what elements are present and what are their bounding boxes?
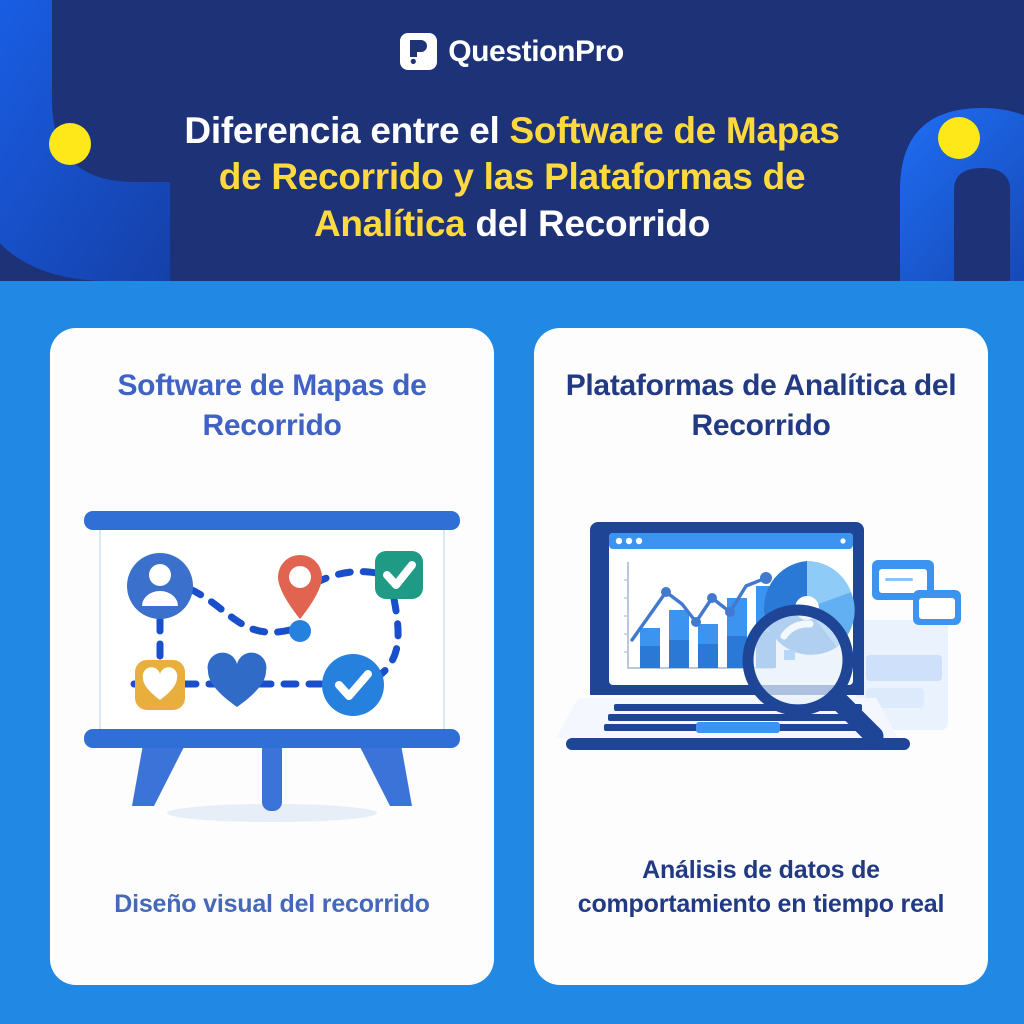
teal-checkbox-icon <box>375 551 423 599</box>
yellow-heart-square-icon <box>135 660 185 710</box>
card-title: Software de Mapas de Recorrido <box>72 366 472 445</box>
brand-name: QuestionPro <box>448 37 624 67</box>
whiteboard-journey-map-illustration <box>72 445 472 887</box>
title-part-highlight-1: Software de Mapas <box>510 110 840 151</box>
card-journey-mapping-software[interactable]: Software de Mapas de Recorrido <box>50 328 494 985</box>
title-part-white-2: del Recorrido <box>475 203 710 244</box>
title-part-highlight-3: Analítica <box>314 203 476 244</box>
title-part-highlight-2: de Recorrido y las Plataformas de <box>219 156 805 197</box>
card-caption: Análisis de datos de comportamiento en t… <box>556 854 966 955</box>
card-title: Plataformas de Analítica del Recorrido <box>556 366 966 445</box>
comparison-cards: Software de Mapas de Recorrido <box>50 328 985 985</box>
infographic-page: QuestionPro Diferencia entre el Software… <box>0 0 1024 1024</box>
page-title: Diferencia entre el Software de Mapas de… <box>60 108 964 247</box>
brand-logo[interactable]: QuestionPro <box>0 33 1024 70</box>
header-band: QuestionPro Diferencia entre el Software… <box>0 0 1024 281</box>
questionpro-p-question-mark-icon <box>400 33 437 70</box>
blue-check-circle-icon <box>322 654 384 716</box>
laptop-analytics-dashboard-illustration <box>556 445 966 854</box>
card-journey-analytics-platforms[interactable]: Plataformas de Analítica del Recorrido <box>534 328 988 985</box>
avatar-circle-icon <box>127 553 193 619</box>
card-caption: Diseño visual del recorrido <box>114 888 430 956</box>
title-part-white-1: Diferencia entre el <box>184 110 509 151</box>
